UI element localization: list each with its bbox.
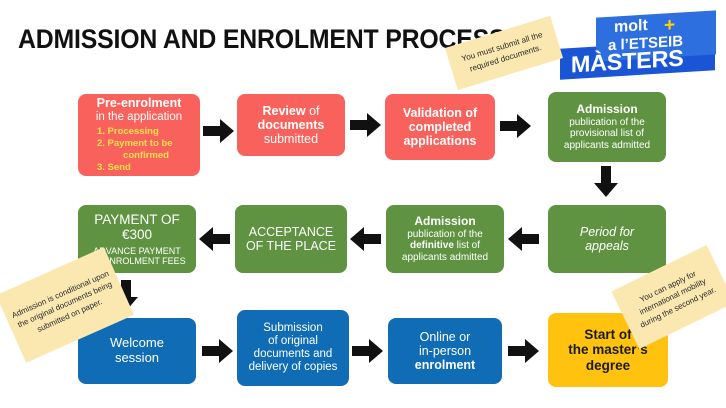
step-online-enrolment[interactable]: Online or in-person enrolment xyxy=(388,318,502,384)
step-review-line1: Review of xyxy=(242,104,340,118)
step-payment-line1: PAYMENT OF xyxy=(83,212,191,227)
step-review-documents[interactable]: Review of documents submitted xyxy=(237,94,345,156)
list-item: 2. Payment to be xyxy=(97,138,195,149)
step-acceptance-line2: OF THE PLACE xyxy=(240,239,342,253)
step-pre-enrolment-title: Pre-enrolment xyxy=(83,96,195,110)
step-admission-provisional-line2: publication of the xyxy=(553,117,661,128)
step-submission-line4: delivery of copies xyxy=(242,361,344,374)
step-admission-provisional-line4: applicants admitted xyxy=(553,140,661,151)
logo-line-masters: MÀSTERS xyxy=(571,45,684,79)
step-admission-definitive-title: Admission xyxy=(391,215,499,229)
step-period-appeals-line1: Period for xyxy=(553,225,661,239)
step-admission-definitive-line2: publication of the xyxy=(391,229,499,240)
step-welcome-line2: session xyxy=(83,351,191,366)
list-item: 1. Processing xyxy=(97,126,195,137)
step-submission-originals[interactable]: Submission of original documents and del… xyxy=(237,310,349,386)
step-submission-line1: Submission xyxy=(242,322,344,335)
step-review-title: Review xyxy=(263,104,306,118)
page-title: ADMISSION AND ENROLMENT PROCESS xyxy=(18,24,505,55)
step-admission-definitive-line3-tail: list of xyxy=(454,240,480,251)
step-review-title-tail: of xyxy=(306,104,320,118)
plus-icon: + xyxy=(664,18,675,34)
step-admission-provisional-line3: provisional list of xyxy=(553,128,661,139)
step-review-line2: documents xyxy=(242,118,340,132)
step-acceptance[interactable]: ACCEPTANCE OF THE PLACE xyxy=(235,205,347,273)
step-online-enrolment-line2: in-person xyxy=(393,344,497,358)
step-admission-definitive[interactable]: Admission publication of the definitive … xyxy=(386,205,504,273)
list-item: 3. Send xyxy=(97,162,195,173)
step-acceptance-line1: ACCEPTANCE xyxy=(240,225,342,239)
step-period-appeals[interactable]: Period for appeals xyxy=(548,205,666,273)
step-validation-line3: applications xyxy=(390,134,490,148)
step-submission-line2: of original xyxy=(242,335,344,348)
step-pre-enrolment[interactable]: Pre-enrolment in the application 1. Proc… xyxy=(78,94,200,176)
step-validation-line1: Validation of xyxy=(390,106,490,120)
step-online-enrolment-line3: enrolment xyxy=(393,358,497,372)
step-admission-provisional-title: Admission xyxy=(553,103,661,117)
step-pre-enrolment-list: 1. Processing 2. Payment to be confirmed… xyxy=(97,126,195,174)
step-pre-enrolment-subtitle: in the application xyxy=(83,111,195,124)
step-payment-amount: €300 xyxy=(83,227,191,242)
step-online-enrolment-line1: Online or xyxy=(393,330,497,344)
step-admission-definitive-emph: definitive xyxy=(410,240,454,251)
logo-molt-a-letseib-masters: molt + a l’ETSEIB MÀSTERS xyxy=(560,14,720,76)
step-review-line3: submitted xyxy=(242,132,340,146)
step-admission-provisional[interactable]: Admission publication of the provisional… xyxy=(548,92,666,162)
logo-line-molt: molt xyxy=(614,17,648,37)
step-validation-line2: completed xyxy=(390,120,490,134)
step-submission-line3: documents and xyxy=(242,348,344,361)
step-start-master-line3: degree xyxy=(553,358,663,373)
flowchart-canvas: ADMISSION AND ENROLMENT PROCESS molt + a… xyxy=(0,0,726,408)
step-admission-definitive-line3: definitive list of xyxy=(391,240,499,251)
step-admission-definitive-line4: applicants admitted xyxy=(391,252,499,263)
list-item: confirmed xyxy=(97,150,195,161)
step-period-appeals-line2: appeals xyxy=(553,239,661,253)
step-validation[interactable]: Validation of completed applications xyxy=(385,94,495,160)
step-welcome-line1: Welcome xyxy=(83,336,191,351)
